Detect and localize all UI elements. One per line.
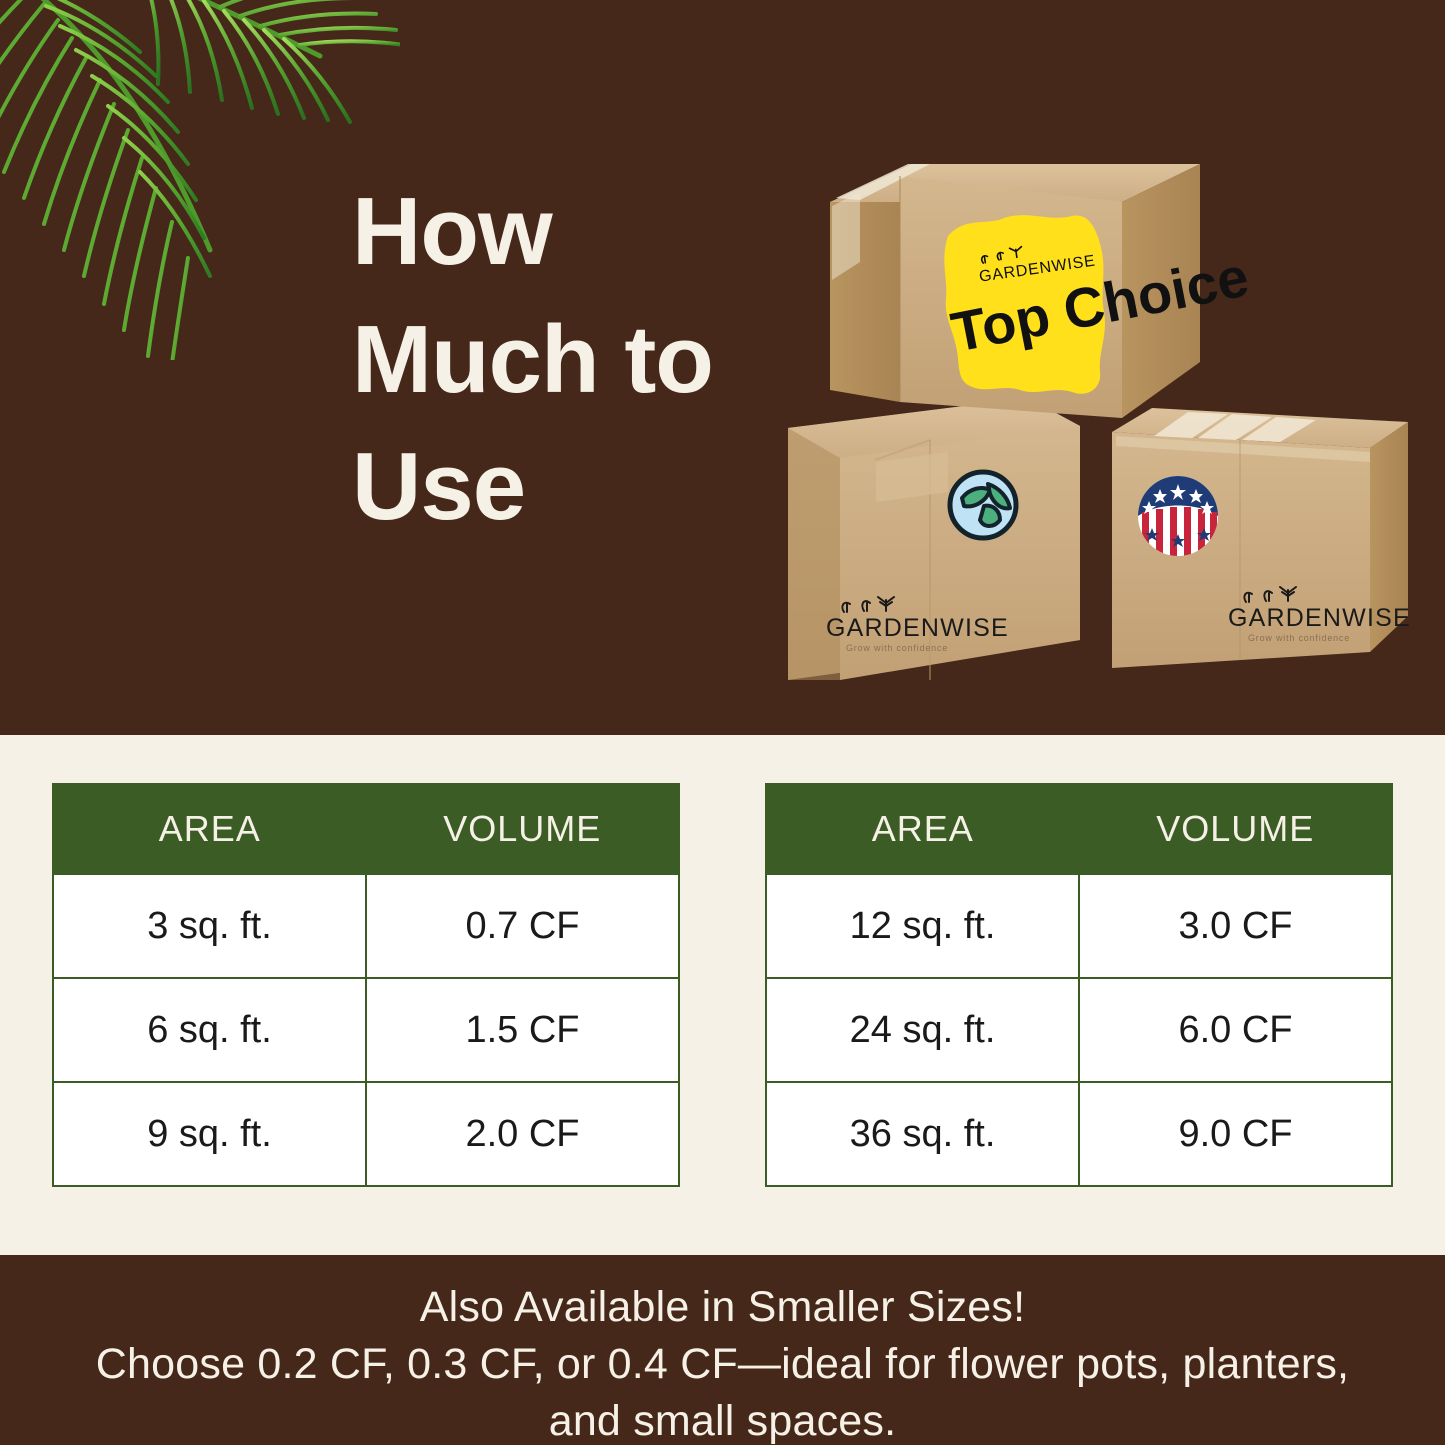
svg-text:Grow with confidence: Grow with confidence bbox=[846, 643, 948, 653]
eco-earth-icon bbox=[950, 472, 1016, 538]
table-header-row: AREA VOLUME bbox=[53, 784, 679, 874]
box-middle: GARDENWISE Grow with confidence bbox=[788, 398, 1080, 680]
box-right: GARDENWISE Grow with confidence bbox=[1112, 408, 1411, 668]
box-top: GARDENWISE Top Choice bbox=[830, 162, 1253, 418]
svg-text:GARDENWISE: GARDENWISE bbox=[826, 614, 1009, 642]
table-row: 3 sq. ft. 0.7 CF bbox=[53, 874, 679, 978]
usage-table-right: AREA VOLUME 12 sq. ft. 3.0 CF 24 sq. ft.… bbox=[765, 783, 1393, 1187]
column-header-area: AREA bbox=[53, 784, 366, 874]
table-header-row: AREA VOLUME bbox=[766, 784, 1392, 874]
product-boxes-illustration: GARDENWISE Grow with confidence bbox=[780, 140, 1420, 685]
table-row: 6 sq. ft. 1.5 CF bbox=[53, 978, 679, 1082]
cell-area: 9 sq. ft. bbox=[53, 1082, 366, 1186]
table-row: 24 sq. ft. 6.0 CF bbox=[766, 978, 1392, 1082]
cell-area: 24 sq. ft. bbox=[766, 978, 1079, 1082]
hero-section: How Much to Use bbox=[0, 0, 1445, 735]
headline-line-2: Much to bbox=[352, 296, 782, 424]
cell-area: 12 sq. ft. bbox=[766, 874, 1079, 978]
cell-volume: 3.0 CF bbox=[1079, 874, 1392, 978]
cell-volume: 9.0 CF bbox=[1079, 1082, 1392, 1186]
footer-line-1: Also Available in Smaller Sizes! bbox=[0, 1279, 1445, 1336]
headline-line-3: Use bbox=[352, 423, 782, 551]
table-row: 36 sq. ft. 9.0 CF bbox=[766, 1082, 1392, 1186]
headline-line-1: How bbox=[352, 168, 782, 296]
cell-volume: 6.0 CF bbox=[1079, 978, 1392, 1082]
tables-section: AREA VOLUME 3 sq. ft. 0.7 CF 6 sq. ft. 1… bbox=[0, 735, 1445, 1255]
svg-text:GARDENWISE: GARDENWISE bbox=[1228, 604, 1411, 632]
footer-note: Also Available in Smaller Sizes! Choose … bbox=[0, 1255, 1445, 1445]
cell-volume: 2.0 CF bbox=[366, 1082, 679, 1186]
table-row: 12 sq. ft. 3.0 CF bbox=[766, 874, 1392, 978]
cell-area: 3 sq. ft. bbox=[53, 874, 366, 978]
column-header-area: AREA bbox=[766, 784, 1079, 874]
cell-area: 6 sq. ft. bbox=[53, 978, 366, 1082]
usage-table-left: AREA VOLUME 3 sq. ft. 0.7 CF 6 sq. ft. 1… bbox=[52, 783, 680, 1187]
footer-line-3: and small spaces. bbox=[0, 1393, 1445, 1445]
page-title: How Much to Use bbox=[352, 168, 782, 551]
table-row: 9 sq. ft. 2.0 CF bbox=[53, 1082, 679, 1186]
palm-leaf-icon bbox=[0, 0, 400, 360]
column-header-volume: VOLUME bbox=[366, 784, 679, 874]
cell-volume: 0.7 CF bbox=[366, 874, 679, 978]
svg-text:Grow with confidence: Grow with confidence bbox=[1248, 633, 1350, 643]
infographic-page: How Much to Use bbox=[0, 0, 1445, 1445]
cell-volume: 1.5 CF bbox=[366, 978, 679, 1082]
cell-area: 36 sq. ft. bbox=[766, 1082, 1079, 1186]
footer-line-2: Choose 0.2 CF, 0.3 CF, or 0.4 CF—ideal f… bbox=[0, 1336, 1445, 1393]
column-header-volume: VOLUME bbox=[1079, 784, 1392, 874]
